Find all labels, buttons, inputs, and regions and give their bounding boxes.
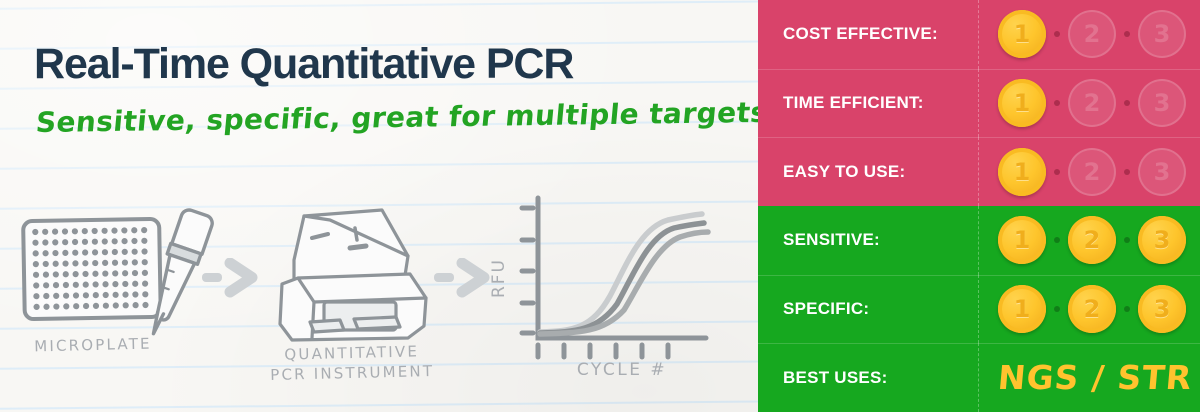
coin-separator-dot: [1116, 148, 1138, 196]
coin-separator-dot: [1116, 285, 1138, 333]
coin-separator-dot: [1116, 79, 1138, 127]
coin-separator-dot: [1046, 79, 1068, 127]
amplification-plot-icon: RFU CYCLE #: [482, 192, 732, 382]
coin-empty: 3: [1138, 148, 1186, 196]
scorecard-row: BEST USES:NGS / STR: [758, 343, 1200, 412]
row-divider: [978, 343, 979, 412]
score-coins: 123: [998, 0, 1186, 69]
chart-ylabel: RFU: [489, 258, 509, 298]
coin-separator-dot: [1046, 148, 1068, 196]
coin-filled: 3: [1138, 285, 1186, 333]
scorecard-row-label: COST EFFECTIVE:: [758, 24, 978, 44]
coin-separator-dot: [1116, 216, 1138, 264]
infographic-root: Real-Time Quantitative PCR Sensitive, sp…: [0, 0, 1200, 412]
coin-filled: 1: [998, 285, 1046, 333]
best-uses-value: NGS / STR: [995, 343, 1195, 412]
coin-empty: 3: [1138, 10, 1186, 58]
scorecard-panel: COST EFFECTIVE:123TIME EFFICIENT:123EASY…: [758, 0, 1200, 412]
scorecard-row-label: EASY TO USE:: [758, 162, 978, 182]
page-title: Real-Time Quantitative PCR: [34, 40, 573, 89]
step-label-instrument: QUANTITATIVE PCR INSTRUMENT: [262, 342, 443, 386]
paper-panel: Real-Time Quantitative PCR Sensitive, sp…: [0, 0, 758, 412]
row-divider: [978, 69, 979, 138]
page-subtitle: Sensitive, specific, great for multiple …: [34, 96, 758, 139]
row-divider: [978, 137, 979, 206]
coin-separator-dot: [1116, 10, 1138, 58]
scorecard-row: SENSITIVE:123: [758, 206, 1200, 275]
step-label-microplate: MICROPLATE: [18, 334, 168, 357]
coin-empty: 2: [1068, 79, 1116, 127]
coin-separator-dot: [1046, 285, 1068, 333]
coin-filled: 1: [998, 216, 1046, 264]
scorecard-row: SPECIFIC:123: [758, 275, 1200, 344]
ruled-line: [0, 160, 758, 170]
coin-empty: 3: [1138, 79, 1186, 127]
coin-filled: 1: [998, 148, 1046, 196]
coin-empty: 2: [1068, 148, 1116, 196]
pcr-instrument-icon: [258, 198, 448, 343]
score-coins: 123: [998, 206, 1186, 275]
coin-filled: 2: [1068, 285, 1116, 333]
arrow-right-icon: [200, 258, 260, 298]
coin-empty: 2: [1068, 10, 1116, 58]
score-coins: 123: [998, 275, 1186, 344]
scorecard-row: COST EFFECTIVE:123: [758, 0, 1200, 69]
scorecard-row: EASY TO USE:123: [758, 137, 1200, 206]
coin-filled: 1: [998, 79, 1046, 127]
score-coins: 123: [998, 137, 1186, 206]
row-divider: [978, 0, 979, 69]
ruled-line: [0, 400, 758, 410]
chart-xlabel: CYCLE #: [577, 360, 667, 380]
coin-filled: 2: [1068, 216, 1116, 264]
scorecard-row: TIME EFFICIENT:123: [758, 69, 1200, 138]
scorecard-row-label: BEST USES:: [758, 368, 978, 388]
scorecard-row-label: SPECIFIC:: [758, 299, 978, 319]
row-divider: [978, 275, 979, 344]
coin-separator-dot: [1046, 10, 1068, 58]
coin-filled: 3: [1138, 216, 1186, 264]
coin-separator-dot: [1046, 216, 1068, 264]
coin-filled: 1: [998, 10, 1046, 58]
ruled-line: [0, 0, 758, 10]
row-divider: [978, 206, 979, 275]
score-coins: 123: [998, 69, 1186, 138]
scorecard-row-label: TIME EFFICIENT:: [758, 93, 978, 113]
scorecard-row-label: SENSITIVE:: [758, 230, 978, 250]
